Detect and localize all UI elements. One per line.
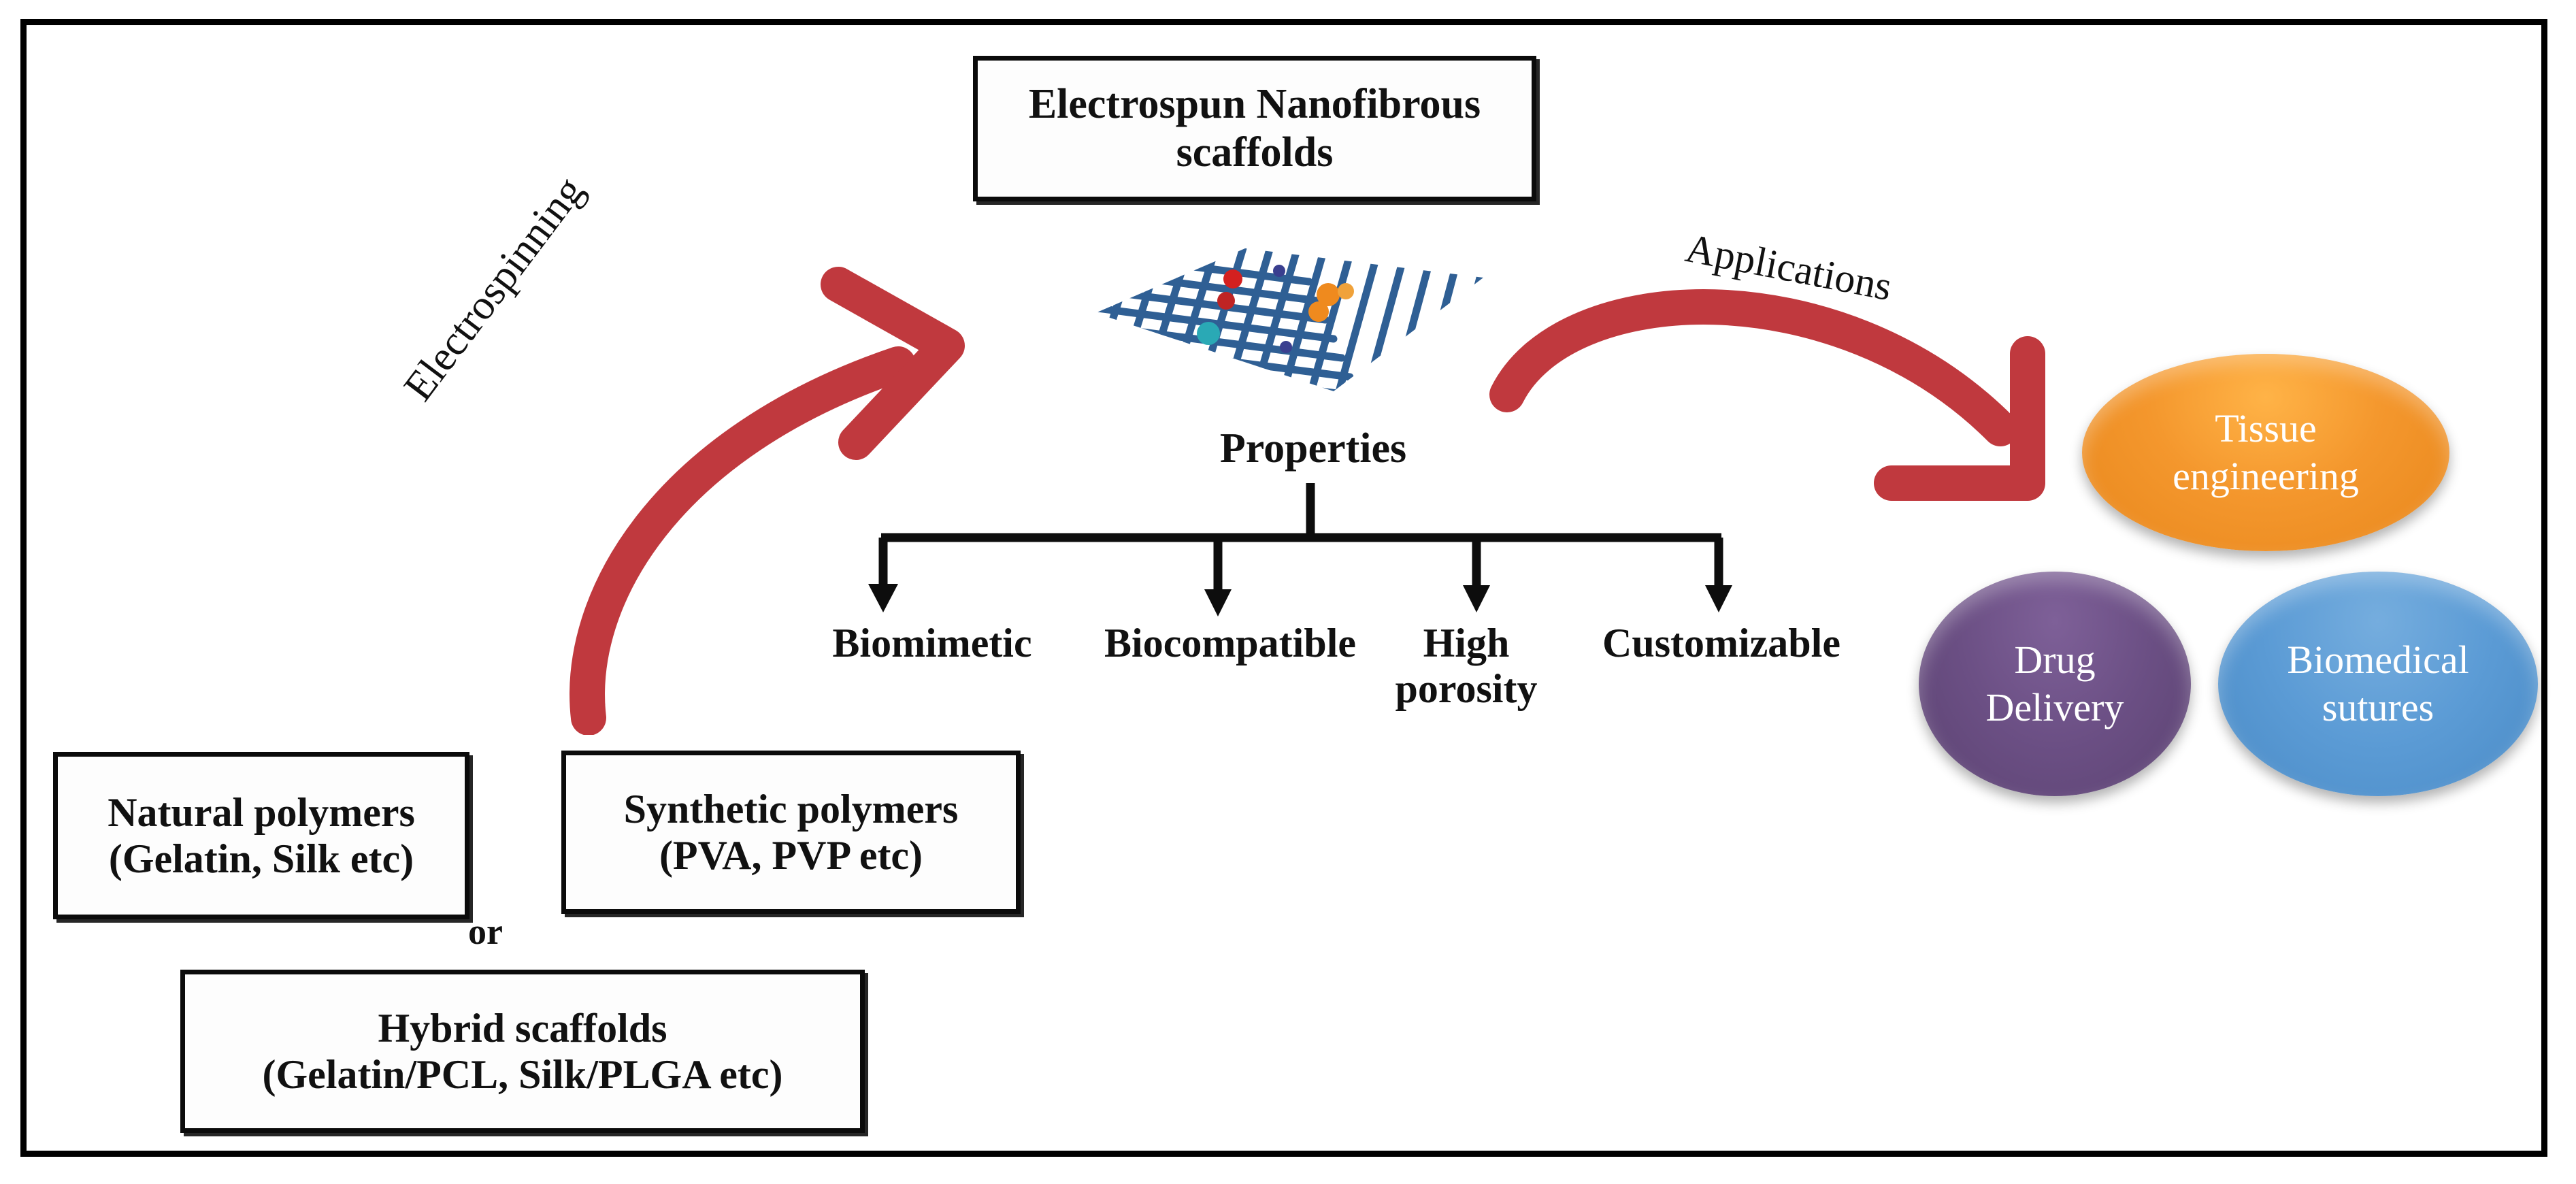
- property-0-line-1: Biomimetic: [832, 621, 1031, 665]
- title-line-2: scaffolds: [1176, 129, 1334, 177]
- sutures-line-1: Biomedical: [2287, 636, 2468, 684]
- property-label-high-porosity: High porosity: [1354, 621, 1579, 712]
- natural-line-1: Natural polymers: [108, 789, 415, 836]
- sutures-line-2: sutures: [2287, 684, 2468, 731]
- tissue-line-1: Tissue: [2173, 405, 2359, 453]
- application-ellipse-biomedical-sutures: Biomedical sutures: [2218, 572, 2538, 796]
- property-label-biomimetic: Biomimetic: [789, 621, 1075, 666]
- electrospun-nanofiber-mesh-icon: [1075, 225, 1497, 415]
- drug-line-2: Delivery: [1986, 684, 2124, 731]
- title-box-electrospun-nanofibrous-scaffolds: Electrospun Nanofibrous scaffolds: [973, 56, 1536, 201]
- property-2-line-2: porosity: [1396, 666, 1538, 711]
- or-connector-label: or: [468, 910, 503, 953]
- synthetic-polymers-box: Synthetic polymers (PVA, PVP etc): [561, 751, 1021, 914]
- properties-heading: Properties: [1204, 425, 1422, 473]
- synthetic-line-2: (PVA, PVP etc): [659, 832, 923, 878]
- natural-polymers-box: Natural polymers (Gelatin, Silk etc): [53, 752, 469, 919]
- property-2-line-1: High: [1423, 621, 1510, 665]
- application-ellipse-tissue-engineering: Tissue engineering: [2082, 354, 2449, 551]
- hybrid-line-1: Hybrid scaffolds: [378, 1005, 667, 1051]
- hybrid-scaffolds-box: Hybrid scaffolds (Gelatin/PCL, Silk/PLGA…: [180, 970, 865, 1133]
- hybrid-line-2: (Gelatin/PCL, Silk/PLGA etc): [263, 1051, 783, 1098]
- application-ellipse-drug-delivery: Drug Delivery: [1919, 572, 2191, 796]
- drug-line-1: Drug: [1986, 636, 2124, 684]
- synthetic-line-1: Synthetic polymers: [624, 786, 959, 832]
- tissue-line-2: engineering: [2173, 453, 2359, 500]
- property-3-line-1: Customizable: [1602, 621, 1840, 665]
- natural-line-2: (Gelatin, Silk etc): [109, 836, 414, 882]
- property-1-line-1: Biocompatible: [1104, 621, 1356, 665]
- title-line-1: Electrospun Nanofibrous: [1029, 80, 1481, 129]
- properties-tree-connectors: [844, 476, 1796, 626]
- figure-canvas: Electrospun Nanofibrous scaffolds: [0, 0, 2576, 1184]
- property-label-customizable: Customizable: [1551, 621, 1892, 666]
